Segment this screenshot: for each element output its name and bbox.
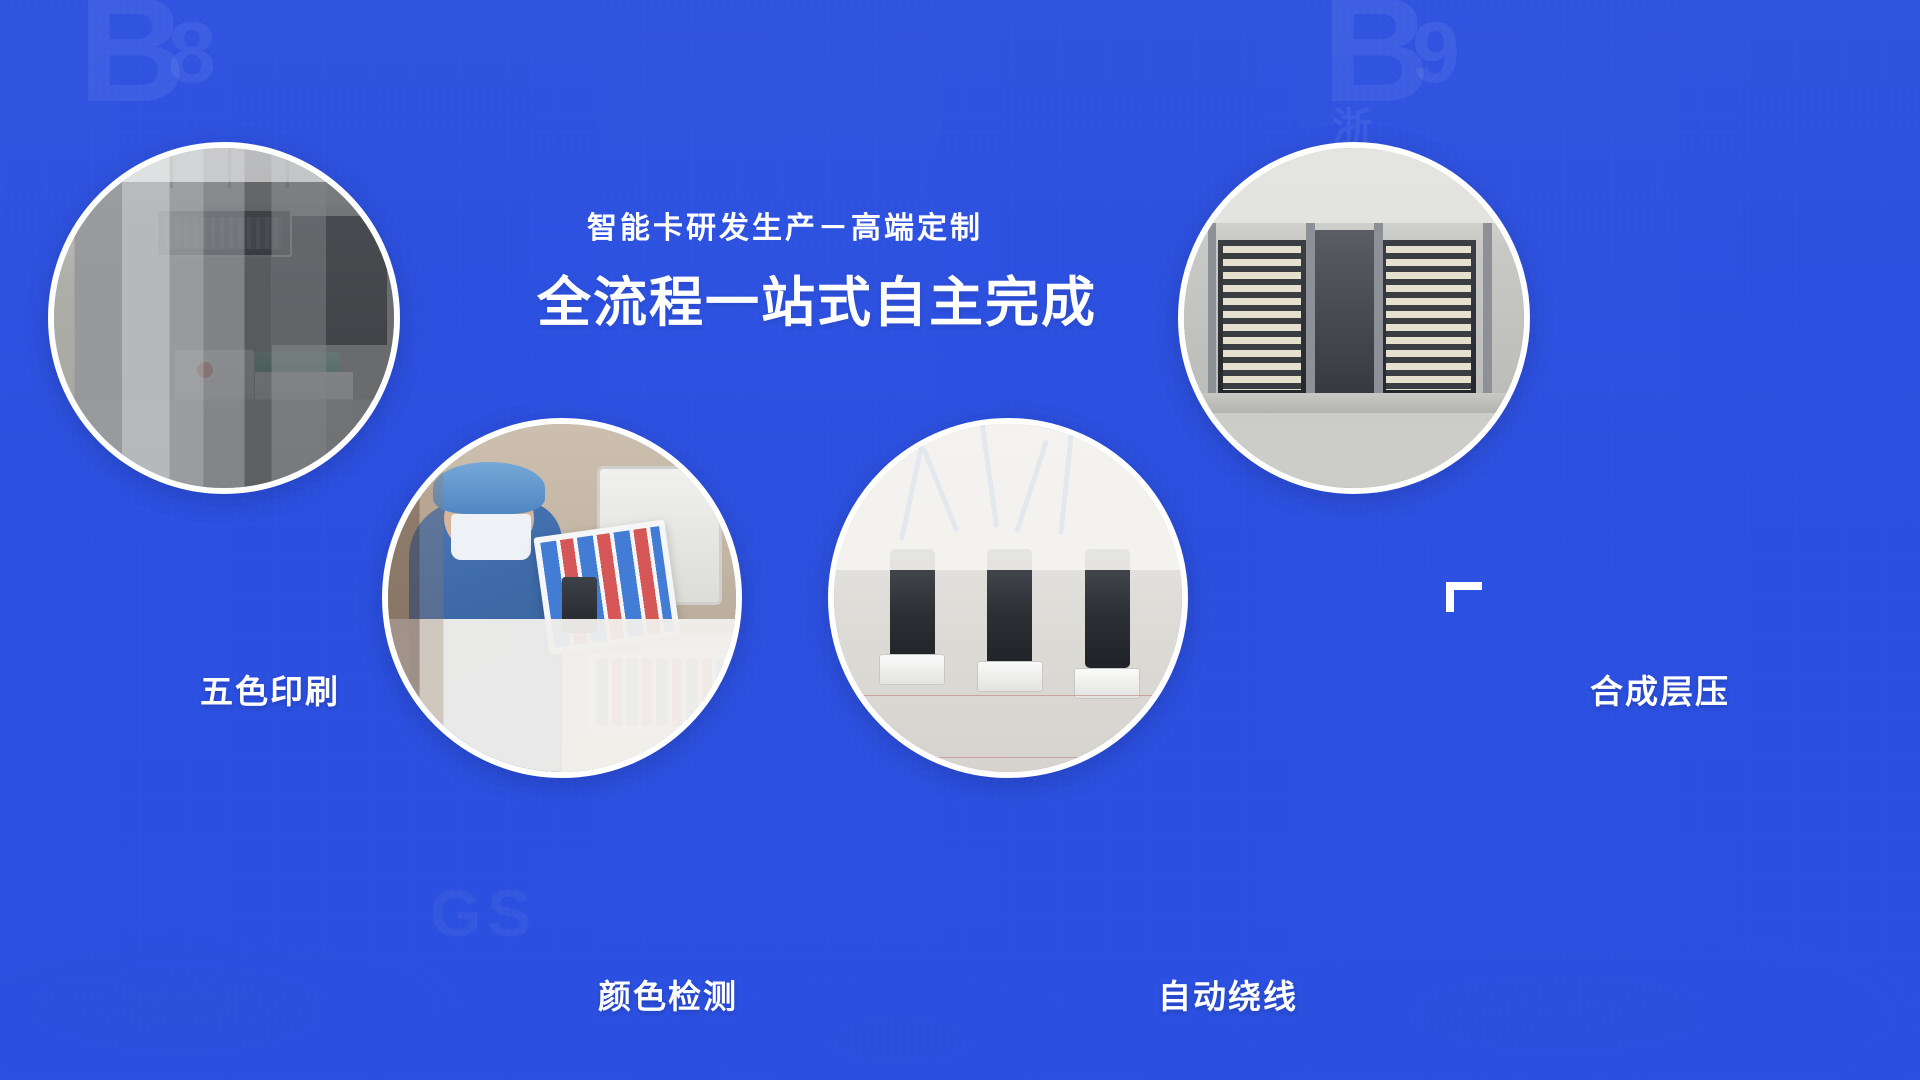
press-control-unit-shape	[156, 209, 292, 257]
watermark-number-9: 9	[1412, 10, 1460, 96]
printed-card-sheet	[534, 520, 681, 656]
step-2-label: 颜色检测	[598, 970, 738, 1018]
winding-foot-plate	[1074, 668, 1140, 699]
press-operator-panel	[173, 349, 255, 424]
step-3-label: 自动绕线	[1158, 970, 1298, 1018]
color-proof-sheet	[590, 654, 729, 731]
air-tube	[980, 424, 999, 528]
step-2-image-circle	[382, 418, 742, 778]
winding-head	[1085, 549, 1130, 667]
operator-body-shape	[409, 501, 562, 772]
watermark-text-gs: GS	[430, 880, 537, 946]
winding-foot-plate	[879, 654, 945, 685]
press-base-shape	[1198, 393, 1511, 420]
step-4-image-circle	[1178, 142, 1530, 494]
step-1-label: 五色印刷	[200, 665, 340, 713]
air-tube	[1058, 424, 1075, 535]
press-guide-post	[1306, 223, 1315, 413]
coil-winding-photo	[834, 424, 1182, 772]
press-body-shape	[272, 216, 388, 345]
color-inspection-photo	[388, 424, 736, 772]
winding-head	[890, 549, 935, 667]
press-guide-post	[1208, 223, 1217, 413]
press-paper-stack	[251, 372, 353, 426]
headline-subtitle: 智能卡研发生产－高端定制	[560, 203, 1010, 247]
operator-cap-shape	[433, 462, 544, 514]
air-tube	[922, 447, 961, 533]
lamination-press-photo	[1184, 148, 1524, 488]
connector-3-chevron-up-right-icon	[1438, 570, 1496, 633]
press-stack-left	[1218, 240, 1306, 396]
press-center-column	[1313, 230, 1374, 407]
process-step-2[interactable]	[382, 418, 742, 778]
headline-title: 全流程一站式自主完成	[537, 258, 1037, 337]
process-step-1[interactable]	[48, 142, 400, 494]
inspection-monitor-shape	[597, 466, 722, 605]
step-1-image-circle	[48, 142, 400, 494]
process-step-4[interactable]	[1178, 142, 1530, 494]
step-3-image-circle	[828, 418, 1188, 778]
spectrophotometer-device	[562, 577, 597, 633]
operator-mask-shape	[451, 514, 531, 559]
press-guide-post	[1483, 223, 1492, 413]
press-emergency-button	[197, 362, 213, 378]
winding-head	[987, 549, 1032, 667]
work-surface-outline	[862, 695, 1154, 758]
winding-foot-plate	[977, 661, 1043, 692]
air-tube	[1014, 440, 1049, 534]
press-guide-post	[1374, 223, 1383, 413]
printing-press-photo	[54, 148, 394, 488]
operator-head-shape	[444, 480, 534, 557]
air-tube	[898, 425, 927, 542]
press-sheet-stack-green	[251, 352, 339, 376]
press-stack-right	[1381, 240, 1476, 396]
process-step-3[interactable]	[828, 418, 1188, 778]
watermark-number-8: 8	[168, 10, 216, 96]
step-4-label: 合成层压	[1590, 665, 1730, 713]
